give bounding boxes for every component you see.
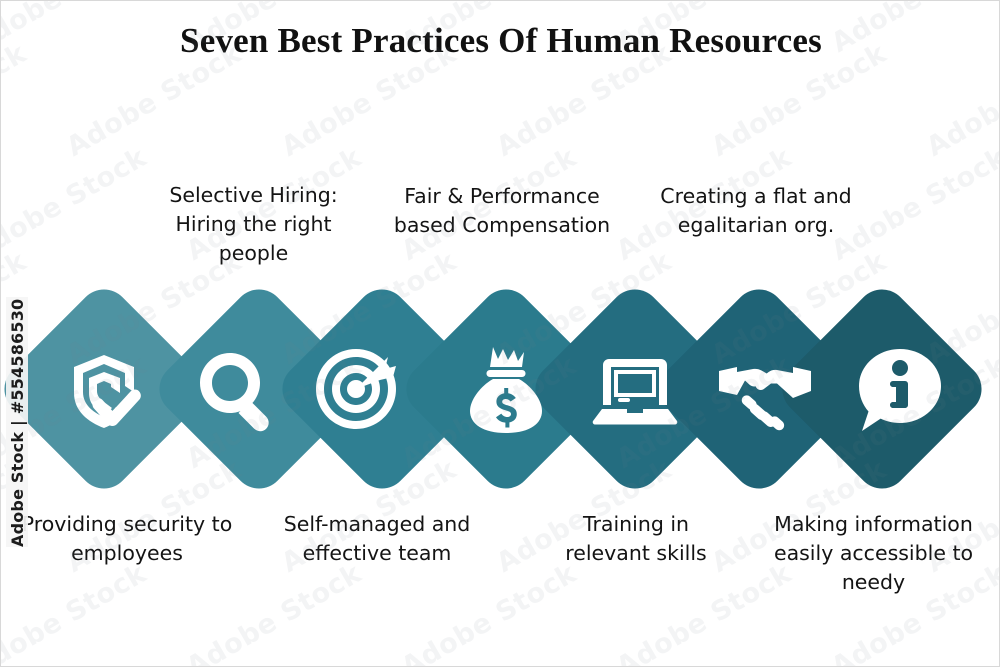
practice-label-6: Creating a flat and egalitarian org. [656, 182, 856, 240]
handshake-icon [715, 339, 815, 439]
stock-id-text: Adobe Stock | #554586530 [8, 299, 27, 547]
practice-icon-3 [306, 339, 406, 439]
practice-label-1: Providing security to employees [17, 510, 237, 568]
practice-label-4: Fair & Performance based Compensation [393, 182, 611, 240]
practice-label-5: Training in relevant skills [541, 510, 731, 568]
practice-icon-4 [456, 339, 556, 439]
practice-icon-2 [186, 339, 286, 439]
practice-label-7: Making information easily accessible to … [756, 510, 991, 597]
practice-label-2: Selective Hiring: Hiring the right peopl… [146, 181, 361, 268]
practice-icon-1 [54, 339, 154, 439]
stock-id-strip: Adobe Stock | #554586530 [6, 297, 28, 547]
practice-icon-5 [585, 339, 685, 439]
shield-check-icon [54, 339, 154, 439]
page-title: Seven Best Practices Of Human Resources [1, 21, 1000, 61]
practice-label-3: Self-managed and effective team [263, 510, 491, 568]
laptop-icon [585, 339, 685, 439]
practice-icon-6 [715, 339, 815, 439]
info-bubble-icon [848, 339, 948, 439]
target-arrow-icon [306, 339, 406, 439]
practice-icon-7 [848, 339, 948, 439]
magnifier-icon [186, 339, 286, 439]
infographic-canvas: Seven Best Practices Of Human Resources [0, 0, 1000, 667]
money-bag-icon [456, 339, 556, 439]
